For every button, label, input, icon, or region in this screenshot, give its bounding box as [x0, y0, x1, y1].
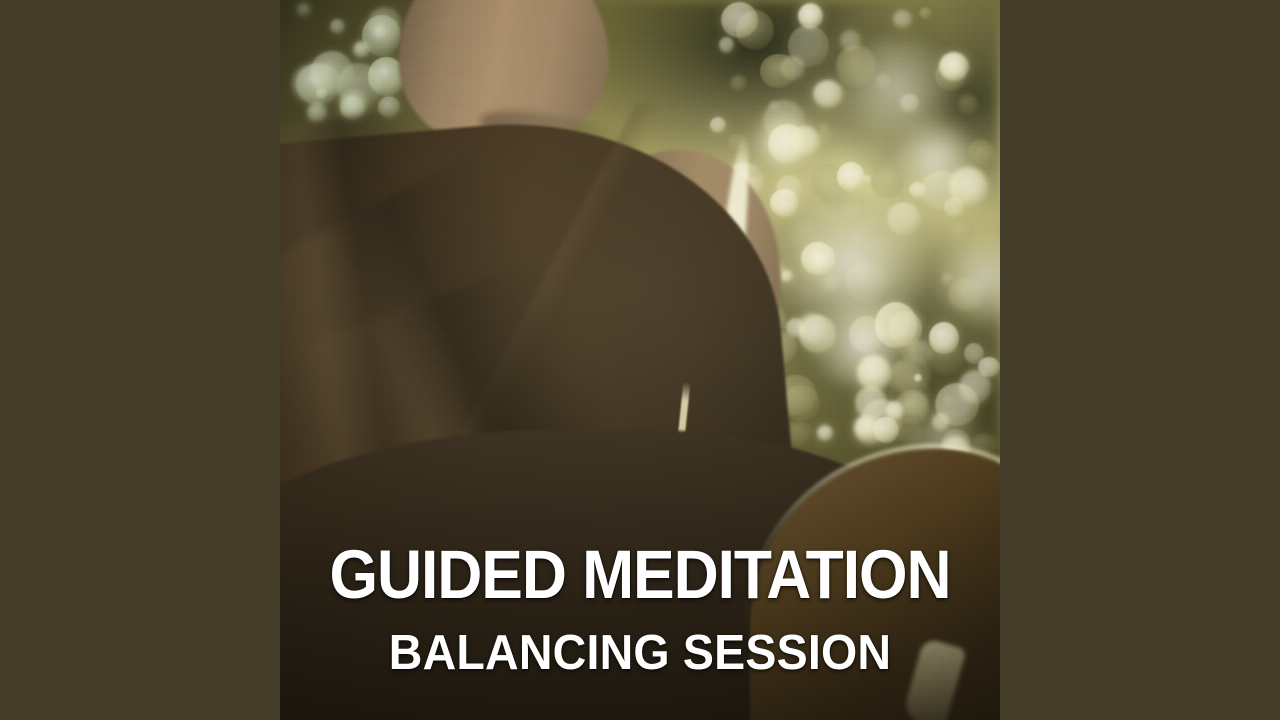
letterbox-bar-left: [0, 0, 280, 720]
video-player-stage: GUIDED MEDITATION BALANCING SESSION: [0, 0, 1280, 720]
letterbox-bar-right: [1000, 0, 1280, 720]
